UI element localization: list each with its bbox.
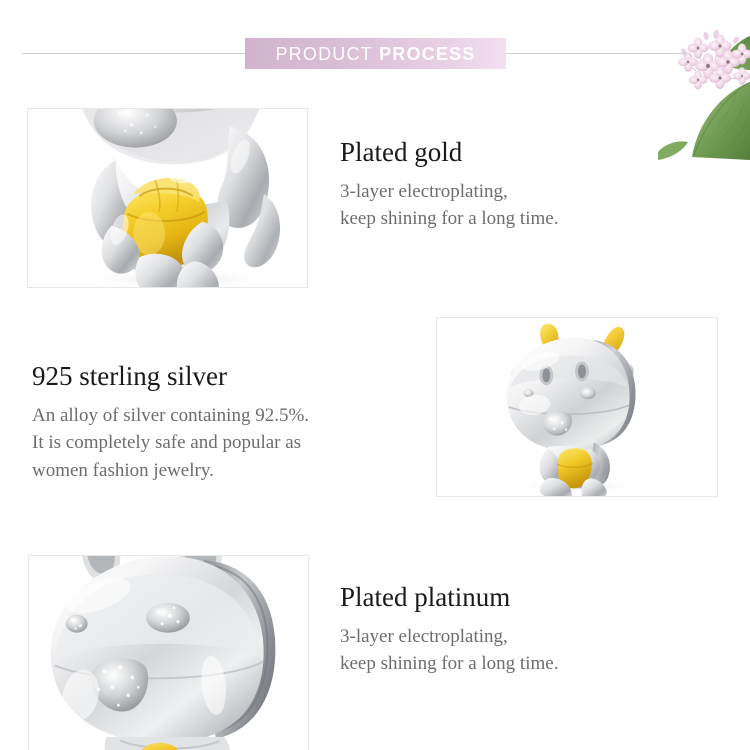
body-line: keep shining for a long time. — [340, 650, 558, 678]
body-line: keep shining for a long time. — [340, 205, 558, 233]
section-title-plated-platinum: Plated platinum — [340, 581, 558, 614]
body-line: An alloy of silver containing 92.5%. — [32, 402, 309, 430]
body-line: women fashion jewelry. — [32, 457, 309, 485]
body-line: 3-layer electroplating, — [340, 623, 558, 651]
product-process-page: PRODUCT PROCESS — [0, 0, 750, 750]
section-body-plated-gold: 3-layer electroplating, keep shining for… — [340, 178, 558, 233]
text-block-plated-gold: Plated gold 3-layer electroplating, keep… — [340, 136, 558, 233]
banner-label: PRODUCT PROCESS — [275, 45, 475, 63]
floral-decoration — [658, 0, 750, 160]
section-body-plated-platinum: 3-layer electroplating, keep shining for… — [340, 623, 558, 678]
text-block-plated-platinum: Plated platinum 3-layer electroplating, … — [340, 581, 558, 678]
product-image-plated-platinum[interactable] — [28, 555, 309, 750]
banner-label-bold: PROCESS — [379, 44, 475, 64]
banner-label-light: PRODUCT — [275, 44, 372, 64]
product-image-plated-gold[interactable] — [27, 108, 308, 288]
section-banner: PRODUCT PROCESS — [245, 38, 506, 69]
body-line: 3-layer electroplating, — [340, 178, 558, 206]
section-title-plated-gold: Plated gold — [340, 136, 558, 169]
product-image-sterling-silver[interactable] — [436, 317, 718, 497]
section-title-sterling-silver: 925 sterling silver — [32, 360, 309, 393]
body-line: It is completely safe and popular as — [32, 429, 309, 457]
section-body-sterling-silver: An alloy of silver containing 92.5%. It … — [32, 402, 309, 485]
text-block-sterling-silver: 925 sterling silver An alloy of silver c… — [32, 360, 309, 485]
